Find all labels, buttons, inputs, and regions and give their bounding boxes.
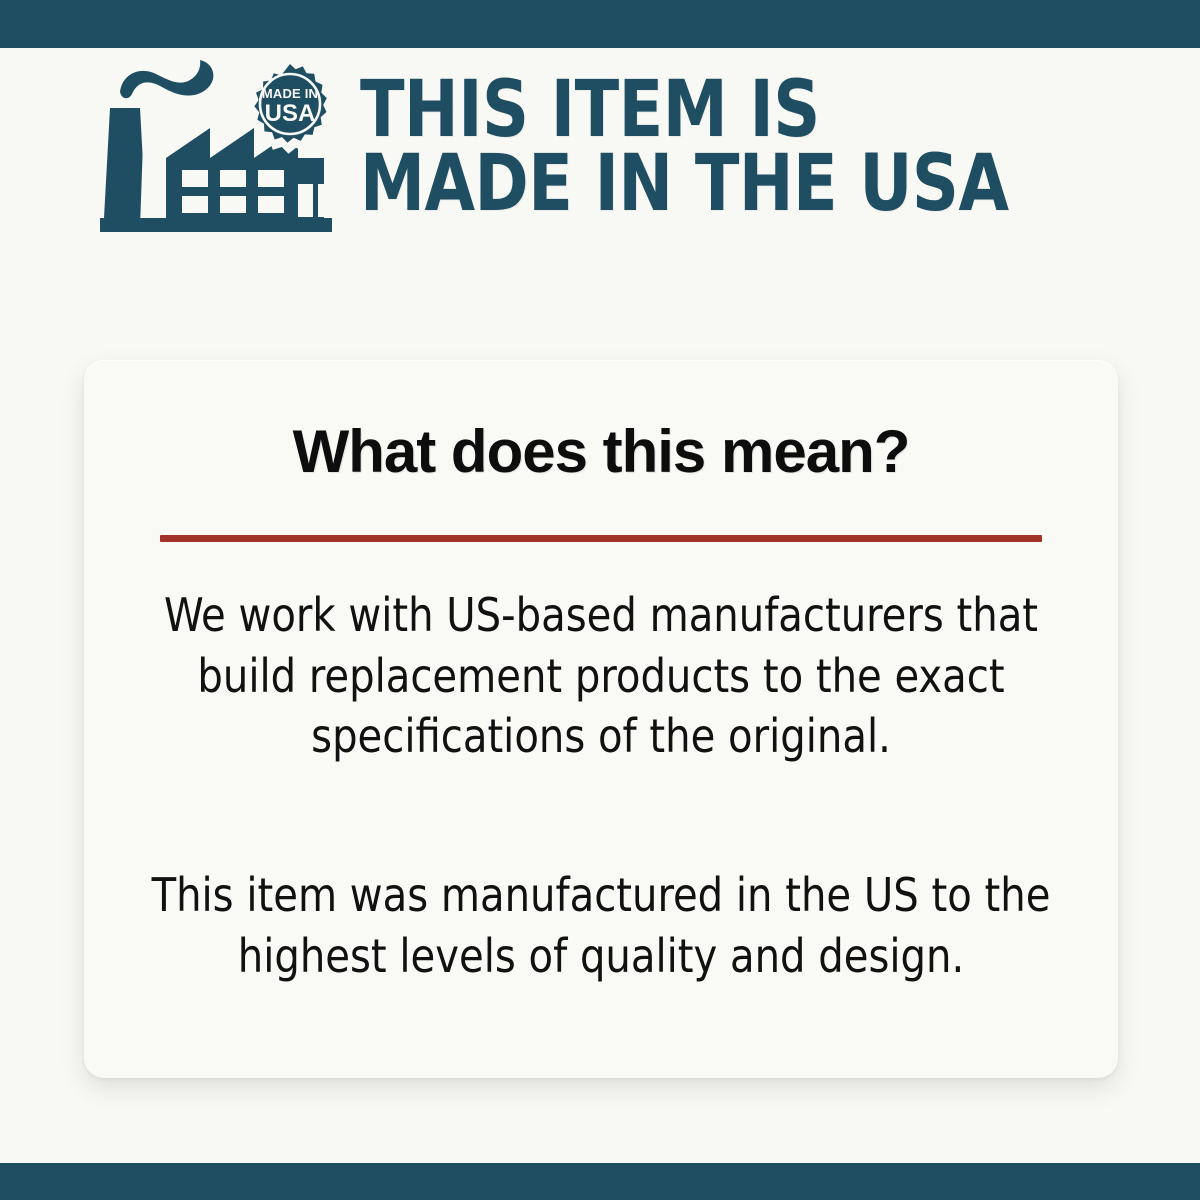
page-header: MADE IN USA THIS ITEM IS MADE IN THE USA [100,52,1160,242]
card-divider [160,535,1042,542]
page-headline: THIS ITEM IS MADE IN THE USA [360,73,1009,221]
svg-text:USA: USA [265,100,316,127]
card-heading: What does this mean? [84,422,1118,482]
info-card: What does this mean? We work with US-bas… [84,360,1118,1078]
svg-text:MADE IN: MADE IN [262,86,318,101]
card-paragraph-2: This item was manufactured in the US to … [138,865,1063,986]
made-in-usa-badge-icon: MADE IN USA [248,58,336,154]
bottom-accent-bar [0,1163,1200,1200]
card-paragraph-1: We work with US-based manufacturers that… [138,585,1063,767]
top-accent-bar [0,0,1200,48]
card-body: We work with US-based manufacturers that… [124,585,1078,987]
factory-icon: MADE IN USA [100,56,338,238]
